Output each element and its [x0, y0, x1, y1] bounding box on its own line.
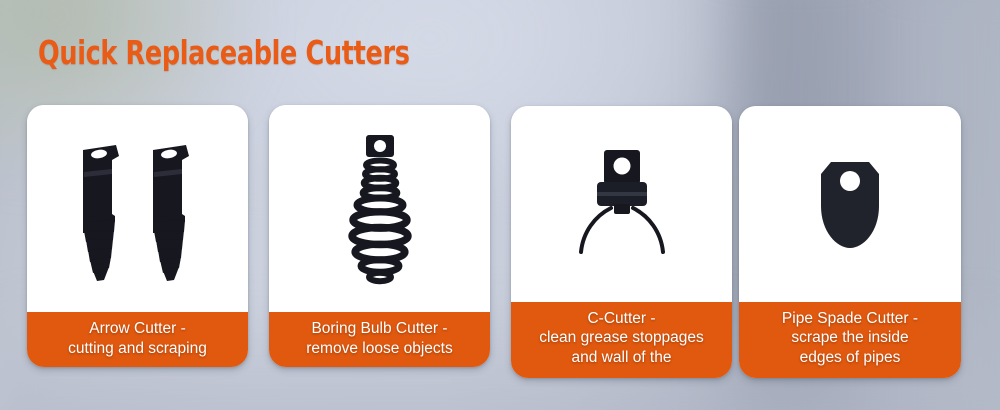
pipe-spade-cutter-image: [739, 106, 961, 302]
cutter-card-caption: Pipe Spade Cutter - scrape the inside ed…: [739, 302, 961, 379]
promotional-banner: Quick Replaceable Cutters: [0, 0, 1000, 410]
c-cutter-icon: [557, 136, 687, 271]
cutter-card-caption: Boring Bulb Cutter - remove loose object…: [269, 312, 490, 367]
cutter-card-arrow[interactable]: Arrow Cutter - cutting and scraping: [27, 105, 248, 367]
boring-bulb-cutter-icon: [325, 129, 435, 289]
pipe-spade-cutter-icon: [795, 154, 905, 254]
cutter-card-c-cutter[interactable]: C-Cutter - clean grease stoppages and wa…: [511, 106, 732, 378]
cutter-card-pipe-spade[interactable]: Pipe Spade Cutter - scrape the inside ed…: [739, 106, 961, 378]
cutter-card-caption: Arrow Cutter - cutting and scraping: [27, 312, 248, 367]
cutter-card-caption: C-Cutter - clean grease stoppages and wa…: [511, 302, 732, 379]
arrow-cutter-blades-icon: [43, 136, 233, 286]
cutter-card-boring-bulb[interactable]: Boring Bulb Cutter - remove loose object…: [269, 105, 490, 367]
boring-bulb-cutter-image: [269, 105, 490, 312]
cutter-card-list: Arrow Cutter - cutting and scraping: [0, 0, 1000, 410]
c-cutter-image: [511, 106, 732, 302]
arrow-cutter-blades-image: [27, 105, 248, 312]
